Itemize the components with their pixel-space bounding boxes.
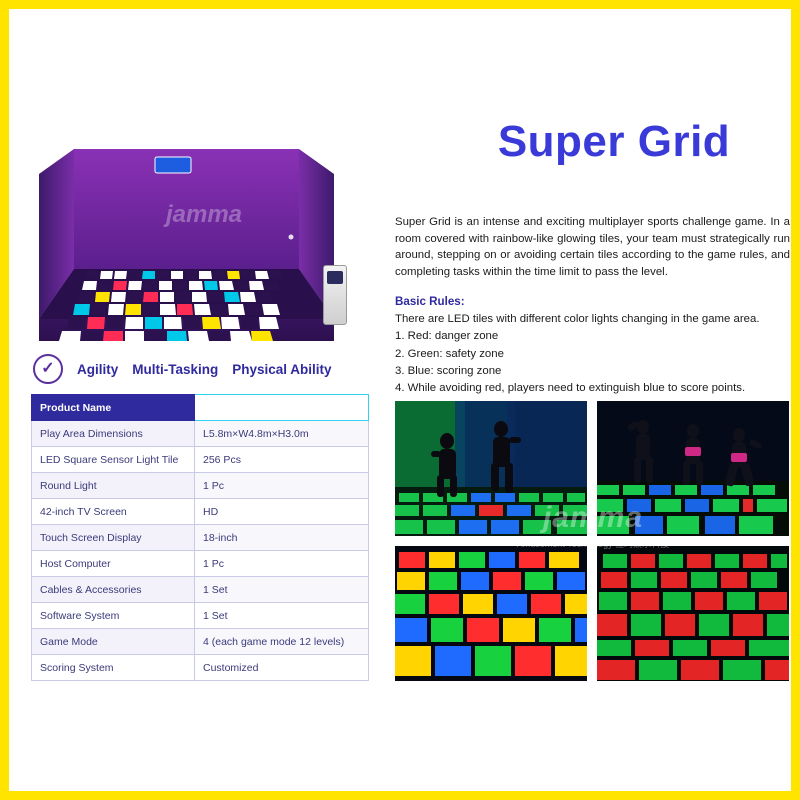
table-header-product-value: Super Grid — [195, 395, 369, 421]
spec-value: Customized — [195, 655, 369, 681]
poster-inner: jamma ✓ Agility Multi-Tasking Physical A… — [9, 9, 791, 791]
spec-label: Host Computer — [32, 551, 195, 577]
spec-value: HD — [195, 499, 369, 525]
gallery-photo-1-svg — [395, 401, 587, 536]
table-header-product-name: Product Name — [32, 395, 195, 421]
check-icon: ✓ — [33, 354, 63, 384]
spec-value: 1 Set — [195, 577, 369, 603]
table-row: 42-inch TV Screen HD — [32, 499, 369, 525]
spec-label: Cables & Accessories — [32, 577, 195, 603]
rule-item-green: 2. Green: safety zone — [395, 346, 795, 363]
table-row: Play Area Dimensions L5.8m×W4.8m×H3.0m — [32, 421, 369, 447]
gallery-photo-4 — [597, 546, 789, 681]
spec-value: L5.8m×W4.8m×H3.0m — [195, 421, 369, 447]
rule-item-scoring: 4. While avoiding red, players need to e… — [395, 380, 795, 397]
spec-value: 1 Set — [195, 603, 369, 629]
product-description: Super Grid is an intense and exciting mu… — [395, 214, 790, 280]
spec-table: Product Name Super Grid Play Area Dimens… — [31, 394, 369, 681]
photo-gallery — [395, 401, 791, 673]
table-row: Software System 1 Set — [32, 603, 369, 629]
spec-value: 1 Pc — [195, 473, 369, 499]
gallery-photo-1 — [395, 401, 587, 536]
spec-value: 18-inch — [195, 525, 369, 551]
table-row: Game Mode 4 (each game mode 12 levels) — [32, 629, 369, 655]
spec-label: Play Area Dimensions — [32, 421, 195, 447]
spec-label: 42-inch TV Screen — [32, 499, 195, 525]
spec-label: Software System — [32, 603, 195, 629]
spec-label: Scoring System — [32, 655, 195, 681]
badge-multi-tasking: Multi-Tasking — [132, 362, 218, 377]
room-svg — [29, 119, 369, 349]
rules-list: There are LED tiles with different color… — [395, 311, 795, 398]
table-row: Scoring System Customized — [32, 655, 369, 681]
table-row: LED Square Sensor Light Tile 256 Pcs — [32, 447, 369, 473]
spec-label: Round Light — [32, 473, 195, 499]
poster-page: jamma ✓ Agility Multi-Tasking Physical A… — [0, 0, 800, 800]
gallery-photo-2-svg — [597, 401, 789, 536]
room-watermark-logo: jamma — [124, 201, 284, 229]
rule-item-blue: 3. Blue: scoring zone — [395, 363, 795, 380]
gallery-photo-3 — [395, 546, 587, 681]
rule-item-red: 1. Red: danger zone — [395, 328, 795, 345]
badge-agility: Agility — [77, 362, 118, 377]
spec-value: 4 (each game mode 12 levels) — [195, 629, 369, 655]
table-row: Host Computer 1 Pc — [32, 551, 369, 577]
spec-label: Game Mode — [32, 629, 195, 655]
spec-value: 1 Pc — [195, 551, 369, 577]
table-row: Round Light 1 Pc — [32, 473, 369, 499]
table-row: Cables & Accessories 1 Set — [32, 577, 369, 603]
gallery-photo-2 — [597, 401, 789, 536]
feature-badges: ✓ Agility Multi-Tasking Physical Ability — [33, 354, 363, 384]
gallery-photo-3-svg — [395, 546, 587, 681]
rules-heading: Basic Rules: — [395, 295, 790, 308]
table-row: Touch Screen Display 18-inch — [32, 525, 369, 551]
spec-value: 256 Pcs — [195, 447, 369, 473]
page-title: Super Grid — [439, 117, 789, 167]
game-room-illustration: jamma — [29, 119, 369, 349]
badge-physical-ability: Physical Ability — [232, 362, 331, 377]
spec-label: LED Square Sensor Light Tile — [32, 447, 195, 473]
spec-label: Touch Screen Display — [32, 525, 195, 551]
rules-intro: There are LED tiles with different color… — [395, 311, 795, 328]
kiosk-terminal — [323, 265, 347, 325]
table-header-row: Product Name Super Grid — [32, 395, 369, 421]
gallery-photo-4-svg — [597, 546, 789, 681]
